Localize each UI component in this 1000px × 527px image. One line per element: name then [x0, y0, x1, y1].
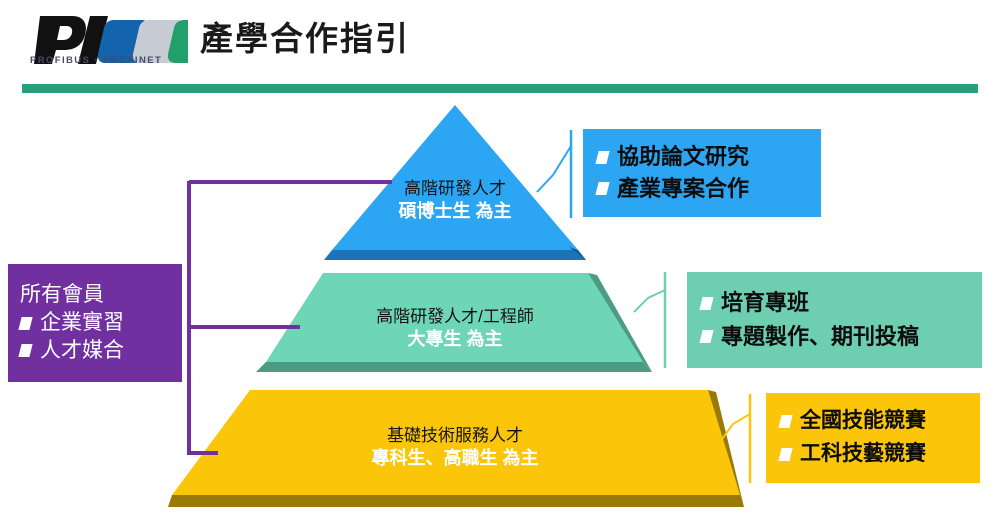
page-title: 產學合作指引	[200, 12, 410, 60]
header-divider-rule	[22, 84, 978, 93]
parallelogram-bullet-icon	[595, 151, 609, 164]
callout-top[interactable]: 協助論文研究 產業專案合作	[583, 129, 821, 217]
callout-middle-item-1: 培育專班	[701, 290, 982, 316]
panel-all-members-item-2: 人才媒合	[20, 338, 182, 363]
pyramid-tier-bottom[interactable]	[168, 390, 744, 507]
parallelogram-bullet-icon	[18, 317, 32, 330]
parallelogram-bullet-icon	[778, 448, 792, 461]
callout-middle-item-2: 專題製作、期刊投稿	[701, 324, 982, 350]
callout-bottom-item-2-text: 工科技藝競賽	[800, 442, 926, 467]
tier-middle-face	[266, 273, 643, 362]
callout-bottom-item-2: 工科技藝競賽	[780, 442, 980, 467]
slide-canvas: PROFIBUS · PROFINET 產學合作指引	[0, 0, 1000, 527]
pyramid-tier-top[interactable]	[324, 105, 586, 260]
panel-all-members-item-1: 企業實習	[20, 310, 182, 335]
parallelogram-bullet-icon	[18, 344, 32, 357]
callout-middle-item-2-text: 專題製作、期刊投稿	[721, 324, 919, 350]
parallelogram-bullet-icon	[699, 330, 713, 343]
pi-logo: PROFIBUS · PROFINET	[28, 8, 188, 72]
callout-middle[interactable]: 培育專班 專題製作、期刊投稿	[687, 272, 982, 368]
tier-top-face	[332, 105, 578, 250]
callout-bottom-item-1-text: 全國技能競賽	[800, 409, 926, 434]
tier-middle-shadow	[256, 362, 652, 372]
logo-tagline: PROFIBUS · PROFINET	[30, 55, 162, 66]
panel-all-members-heading: 所有會員	[20, 282, 182, 307]
panel-all-members[interactable]: 所有會員 企業實習 人才媒合	[8, 264, 182, 382]
parallelogram-bullet-icon	[699, 297, 713, 310]
tier-bottom-face	[172, 390, 740, 495]
panel-all-members-item-2-text: 人才媒合	[40, 338, 124, 363]
callout-bottom-item-1: 全國技能競賽	[780, 409, 980, 434]
tier-bottom-shadow	[168, 495, 744, 507]
callout-top-item-2: 產業專案合作	[597, 176, 821, 202]
panel-all-members-item-1-text: 企業實習	[40, 310, 124, 335]
callout-bottom[interactable]: 全國技能競賽 工科技藝競賽	[766, 393, 980, 483]
parallelogram-bullet-icon	[595, 182, 609, 195]
pyramid-tier-middle[interactable]	[256, 273, 652, 372]
callout-top-item-1: 協助論文研究	[597, 144, 821, 170]
callout-top-item-1-text: 協助論文研究	[617, 144, 749, 170]
callout-middle-item-1-text: 培育專班	[721, 290, 809, 316]
callout-top-item-2-text: 產業專案合作	[617, 176, 749, 202]
tier-top-shadow	[324, 250, 586, 260]
parallelogram-bullet-icon	[778, 415, 792, 428]
